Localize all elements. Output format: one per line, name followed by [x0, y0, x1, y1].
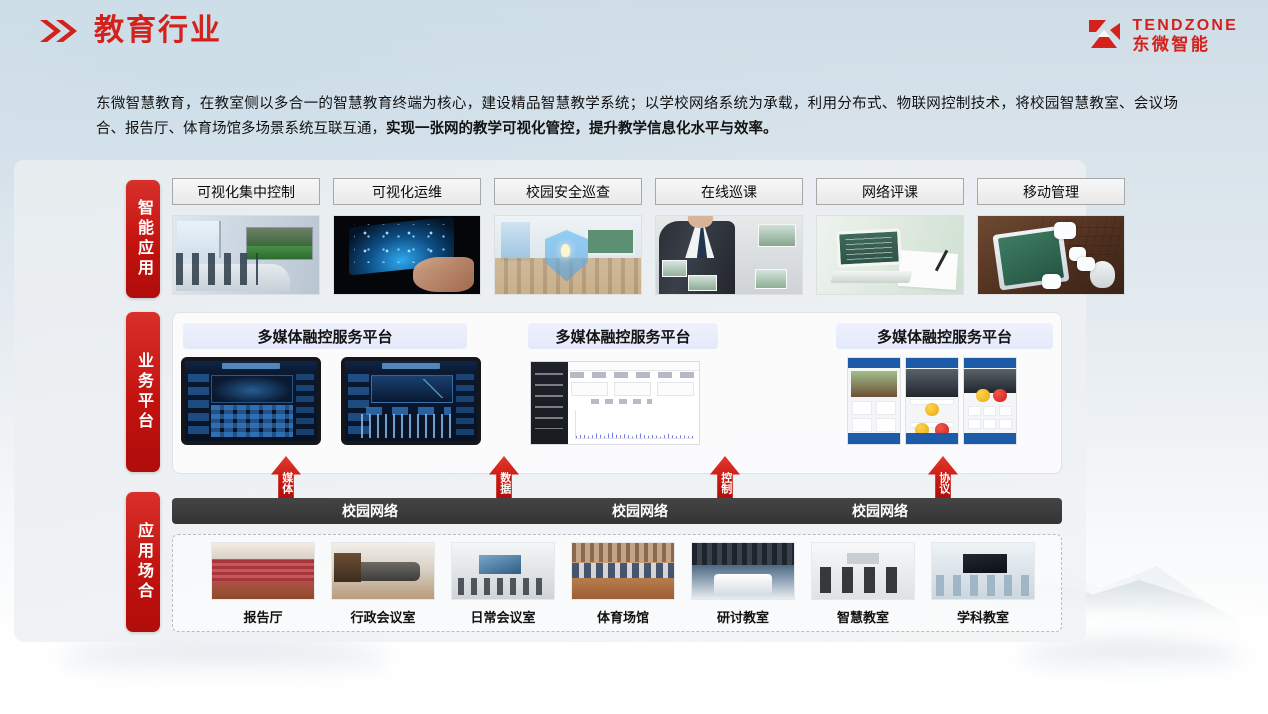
intro-paragraph: 东微智慧教育，在教室侧以多合一的智慧教育终端为核心，建设精品智慧教学系统；以学校… [96, 92, 1178, 142]
network-label-3: 校园网络 [852, 501, 908, 521]
mobile-app-detail [963, 357, 1017, 445]
connector-arrow-control: 控制 [710, 456, 740, 500]
page-title: 教育行业 [94, 16, 222, 46]
brand-logo: TENDZONE 东微智能 [1086, 17, 1238, 54]
platform-title-3: 多媒体融控服务平台 [836, 323, 1053, 349]
control-dashboard-dark [181, 357, 321, 445]
application-button[interactable]: 可视化集中控制 [172, 178, 320, 205]
scenario-item-executive-meeting-room[interactable]: 行政会议室 [331, 542, 435, 626]
double-chevron-right-icon [38, 18, 82, 44]
application-button[interactable]: 校园安全巡查 [494, 178, 642, 205]
gymnasium-photo [571, 542, 675, 600]
connector-label: 协议 [937, 472, 949, 494]
scenario-item-seminar-classroom[interactable]: 研讨教室 [691, 542, 795, 626]
application-item-1[interactable]: 可视化集中控制 [172, 178, 320, 295]
scenario-row: 报告厅 行政会议室 日常会议室 体育场馆 研讨教室 智慧教室 学科教室 [172, 534, 1062, 632]
platform-title-2: 多媒体融控服务平台 [528, 323, 718, 349]
mobile-app-home [847, 357, 901, 445]
intro-line-2-bold: 实现一张网的教学可视化管控，提升教学信息化水平与效率。 [386, 121, 778, 137]
application-item-4[interactable]: 在线巡课 [655, 178, 803, 295]
daily-meeting-room-photo [451, 542, 555, 600]
business-platform-row: 多媒体融控服务平台 多媒体融控服务平台 多媒体融控服务平台 [172, 312, 1062, 474]
laptop-notebook-photo [816, 215, 964, 295]
intro-line-1: 东微智慧教育，在教室侧以多合一的智慧教育终端为核心，建设精品智慧教学系统；以学校… [96, 96, 1089, 112]
scenario-item-subject-classroom[interactable]: 学科教室 [931, 542, 1035, 626]
classroom-shield-photo [494, 215, 642, 295]
layer-tab-label: 智能应用 [135, 199, 151, 279]
web-admin-dashboard [530, 361, 700, 445]
layer-tab-business-platform: 业务平台 [126, 312, 160, 472]
logo-english-text: TENDZONE [1132, 18, 1238, 34]
application-button[interactable]: 可视化运维 [333, 178, 481, 205]
scenario-label: 报告厅 [211, 607, 315, 626]
cloud-shadow [60, 638, 390, 680]
connector-arrow-data: 数据 [489, 456, 519, 500]
scenario-label: 体育场馆 [571, 607, 675, 626]
connector-label: 数据 [498, 472, 510, 494]
application-item-6[interactable]: 移动管理 [977, 178, 1125, 295]
application-button[interactable]: 网络评课 [816, 178, 964, 205]
connector-arrow-protocol: 协议 [928, 456, 958, 500]
control-room-photo [172, 215, 320, 295]
application-button[interactable]: 在线巡课 [655, 178, 803, 205]
application-item-3[interactable]: 校园安全巡查 [494, 178, 642, 295]
scenario-label: 学科教室 [931, 607, 1035, 626]
platform-title-1: 多媒体融控服务平台 [183, 323, 467, 349]
network-label-2: 校园网络 [612, 501, 668, 521]
connector-arrow-media: 媒体 [271, 456, 301, 500]
title-group: 教育行业 [38, 16, 222, 46]
scenario-item-gymnasium[interactable]: 体育场馆 [571, 542, 675, 626]
layer-tab-smart-application: 智能应用 [126, 180, 160, 298]
seminar-classroom-photo [691, 542, 795, 600]
tendzone-logo-mark-icon [1086, 17, 1123, 54]
network-label-1: 校园网络 [342, 501, 398, 521]
slide-header: 教育行业 TENDZONE 东微智能 [0, 0, 1268, 78]
smart-application-row: 可视化集中控制 可视化运维 校园安全巡查 在线巡课 [172, 178, 1072, 306]
connector-label: 控制 [719, 472, 731, 494]
scenario-label: 日常会议室 [451, 607, 555, 626]
scenario-item-lecture-hall[interactable]: 报告厅 [211, 542, 315, 626]
scenario-label: 研讨教室 [691, 607, 795, 626]
scenario-label: 行政会议室 [331, 607, 435, 626]
scenario-label: 智慧教室 [811, 607, 915, 626]
tablet-keyboard-photo [977, 215, 1125, 295]
application-item-2[interactable]: 可视化运维 [333, 178, 481, 295]
scenario-item-smart-classroom[interactable]: 智慧教室 [811, 542, 915, 626]
campus-network-bar: 校园网络 校园网络 校园网络 [172, 498, 1062, 524]
smart-classroom-photo [811, 542, 915, 600]
subject-classroom-photo [931, 542, 1035, 600]
executive-meeting-room-photo [331, 542, 435, 600]
scenario-item-daily-meeting-room[interactable]: 日常会议室 [451, 542, 555, 626]
connector-label: 媒体 [280, 472, 292, 494]
layer-tab-application-scenario: 应用场合 [126, 492, 160, 632]
layer-tab-label: 应用场合 [135, 522, 151, 602]
application-button[interactable]: 移动管理 [977, 178, 1125, 205]
lecture-hall-photo [211, 542, 315, 600]
cloud-shadow [1020, 640, 1240, 674]
logo-chinese-text: 东微智能 [1132, 36, 1238, 53]
layer-tab-label: 业务平台 [135, 352, 151, 432]
application-item-5[interactable]: 网络评课 [816, 178, 964, 295]
businessman-screens-photo [655, 215, 803, 295]
tablet-data-photo [333, 215, 481, 295]
mobile-app-status [905, 357, 959, 445]
audio-dashboard-dark [341, 357, 481, 445]
